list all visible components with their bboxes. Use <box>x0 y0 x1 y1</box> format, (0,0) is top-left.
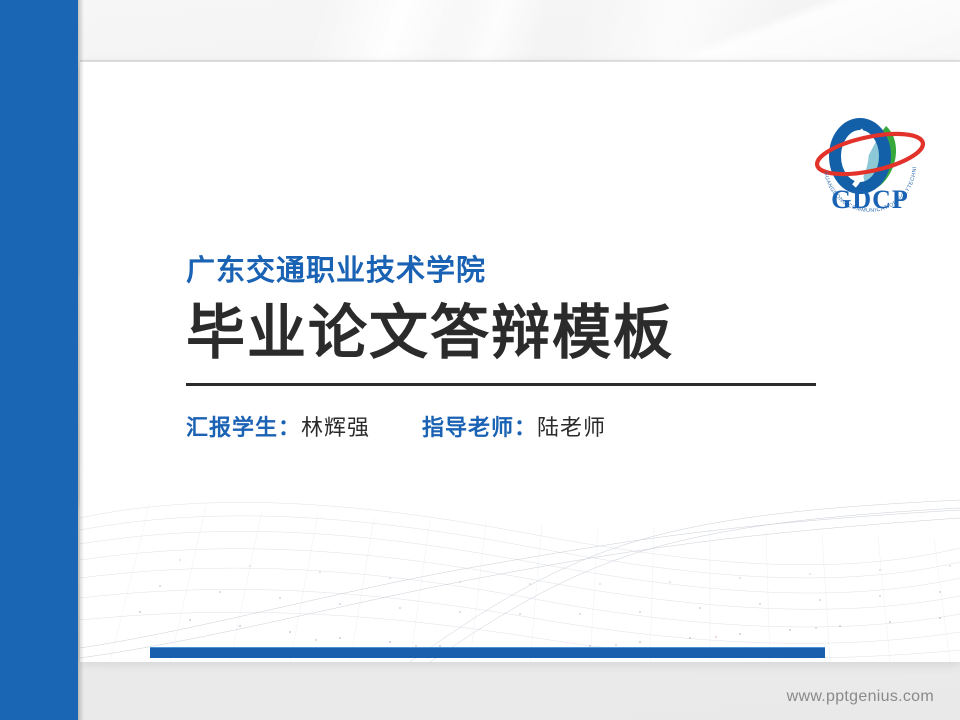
presenter-name: 林辉强 <box>301 410 370 442</box>
title-divider <box>186 383 816 386</box>
slide-card: GUANGDONG COMMUNICATION POLYTECHNIC GDCP… <box>80 62 960 662</box>
left-rail <box>0 0 78 720</box>
wireframe-mesh-wave-graphic <box>80 462 960 662</box>
slide-viewer: GUANGDONG COMMUNICATION POLYTECHNIC GDCP… <box>0 0 960 720</box>
presenter-label: 汇报学生： <box>186 410 301 442</box>
school-name: 广东交通职业技术学院 <box>186 254 846 289</box>
people-row: 汇报学生： 林辉强 指导老师： 陆老师 <box>186 410 846 442</box>
svg-text:GDCP: GDCP <box>831 185 909 212</box>
advisor-label: 指导老师： <box>422 410 537 442</box>
footer-url: www.pptgenius.com <box>787 688 934 706</box>
advisor-name: 陆老师 <box>537 410 606 442</box>
advisor: 指导老师： 陆老师 <box>422 410 606 442</box>
page-title: 毕业论文答辩模板 <box>186 302 846 366</box>
slide-bottom-bar <box>150 647 825 658</box>
title-block: 广东交通职业技术学院 毕业论文答辩模板 汇报学生： 林辉强 指导老师： 陆老师 <box>186 254 846 442</box>
gdcp-university-logo: GUANGDONG COMMUNICATION POLYTECHNIC GDCP <box>808 104 932 212</box>
presenter: 汇报学生： 林辉强 <box>186 410 370 442</box>
